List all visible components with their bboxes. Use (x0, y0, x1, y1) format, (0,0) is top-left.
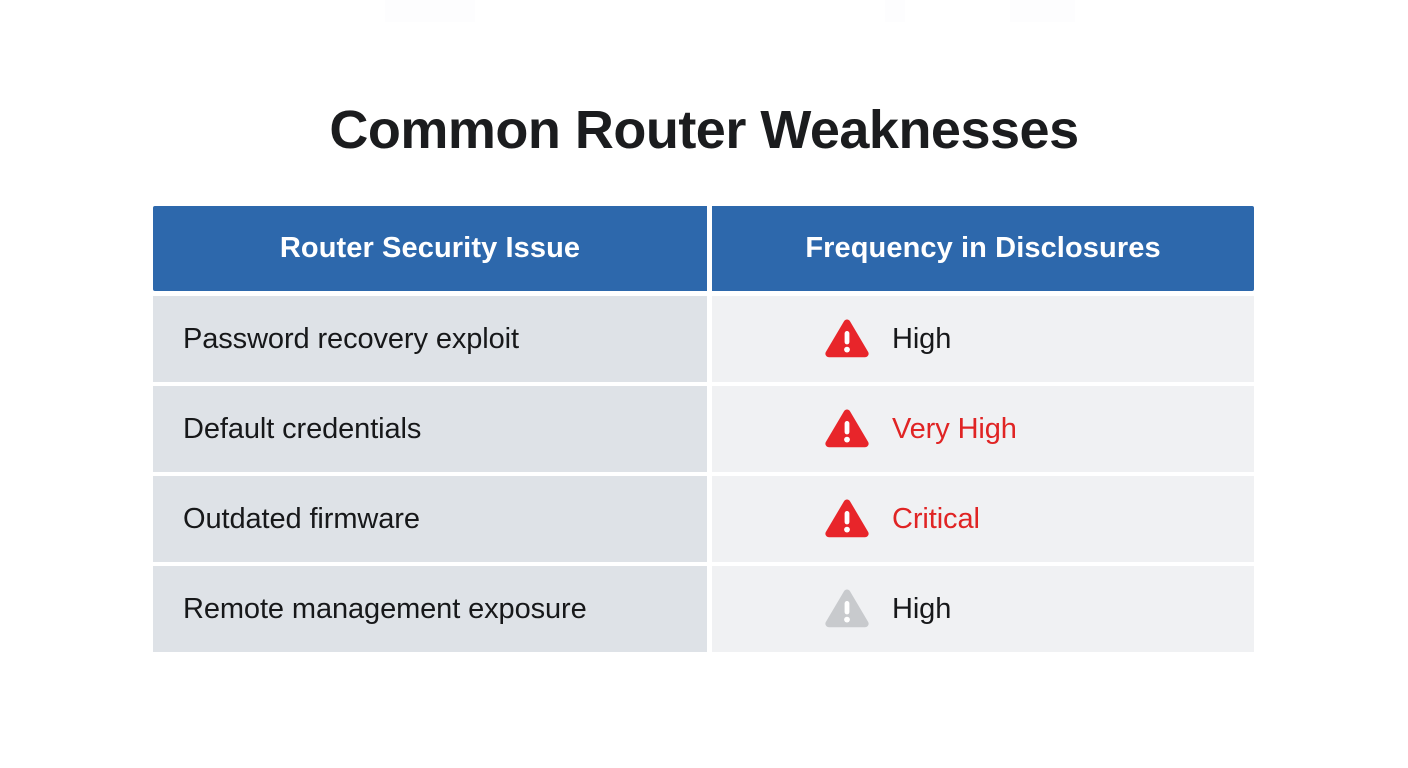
issue-label: Remote management exposure (183, 593, 587, 626)
warning-triangle-icon (824, 588, 870, 630)
frequency-value: High (824, 318, 951, 360)
issue-label: Outdated firmware (183, 503, 420, 536)
frequency-label: High (892, 323, 951, 356)
cell-issue: Remote management exposure (153, 566, 712, 652)
top-artifact-3 (1010, 0, 1075, 22)
warning-triangle-icon (824, 318, 870, 360)
cell-issue: Password recovery exploit (153, 296, 712, 382)
table-body: Password recovery exploit High Def (153, 296, 1254, 652)
warning-triangle-icon (824, 408, 870, 450)
frequency-label: Critical (892, 503, 980, 536)
cell-issue: Outdated firmware (153, 476, 712, 562)
table-row: Remote management exposure High (153, 566, 1254, 652)
column-header-issue: Router Security Issue (153, 206, 712, 291)
top-artifact-1 (385, 0, 475, 22)
warning-triangle-icon (824, 498, 870, 540)
issue-label: Default credentials (183, 413, 421, 446)
cell-frequency: Very High (712, 386, 1254, 472)
table-row: Default credentials Very High (153, 386, 1254, 472)
cell-frequency: High (712, 296, 1254, 382)
cell-frequency: High (712, 566, 1254, 652)
page-root: Common Router Weaknesses Router Security… (0, 0, 1408, 768)
frequency-value: Critical (824, 498, 980, 540)
issue-label: Password recovery exploit (183, 323, 519, 356)
weaknesses-table: Router Security Issue Frequency in Discl… (153, 206, 1254, 652)
cell-frequency: Critical (712, 476, 1254, 562)
table-header-row: Router Security Issue Frequency in Discl… (153, 206, 1254, 291)
top-artifact-2 (885, 0, 905, 22)
frequency-label: Very High (892, 413, 1017, 446)
table-row: Password recovery exploit High (153, 296, 1254, 382)
page-title: Common Router Weaknesses (0, 96, 1408, 164)
cell-issue: Default credentials (153, 386, 712, 472)
frequency-label: High (892, 593, 951, 626)
table-row: Outdated firmware Critical (153, 476, 1254, 562)
frequency-value: High (824, 588, 951, 630)
column-header-frequency: Frequency in Disclosures (712, 206, 1254, 291)
frequency-value: Very High (824, 408, 1017, 450)
